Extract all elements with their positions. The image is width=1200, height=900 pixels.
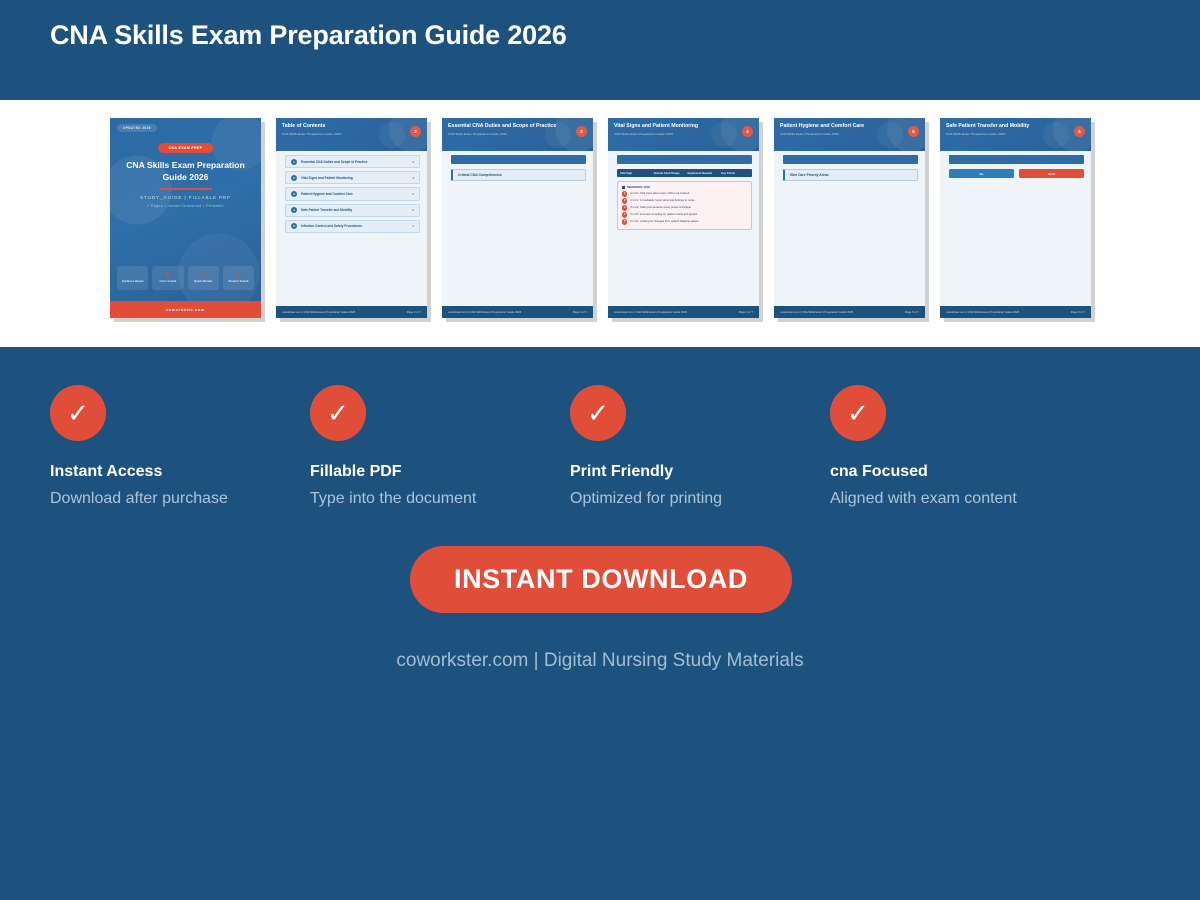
page-5-number: 5 — [908, 126, 919, 137]
memorize-item: 1 It is for: Vital signs taken every shi… — [622, 191, 747, 196]
memorize-item-number: 3 — [622, 205, 627, 210]
page-3-banner — [451, 155, 586, 164]
page-5-body: Skin Care Priority Areas — [774, 151, 925, 305]
memorize-item-number: 2 — [622, 198, 627, 203]
do-dont-columns: Do Don't — [949, 169, 1084, 178]
dont-column: Don't — [1019, 169, 1084, 178]
page-4-banner — [617, 155, 752, 164]
memorize-item-text: It is for: Vital signs taken every shift… — [630, 192, 689, 195]
check-icon: ✓ — [830, 385, 886, 441]
page-6-footer: coworkster.com | CNA Skills Exam Prepara… — [940, 306, 1091, 318]
thumbnail-page-4[interactable]: Vital Signs and Patient Monitoring CNA S… — [608, 118, 759, 318]
diamond-icon: ◆ — [166, 273, 170, 278]
memorize-item-text: It is for: Immediately report abnormal f… — [630, 199, 694, 202]
page-2-title: Table of Contents — [282, 123, 401, 130]
page-3-header: Essential CNA Duties and Scope of Practi… — [442, 118, 593, 151]
check-icon: ✓ — [131, 273, 135, 278]
page-2-subtitle: CNA Skills Exam Preparation Guide 2026 — [282, 132, 341, 136]
page-3-card-title: Critical CNA Competencies — [458, 173, 580, 177]
page-5-subtitle: CNA Skills Exam Preparation Guide 2026 — [780, 132, 839, 136]
memorize-item-text: It is for: Taking temperature using prop… — [630, 206, 691, 209]
feature-title: Fillable PDF — [310, 463, 476, 481]
memorize-box: MEMORIZE THIS 1 It is for: Vital signs t… — [617, 181, 752, 230]
site-footer: coworkster.com | Digital Nursing Study M… — [0, 650, 1200, 672]
cover-footer: coworkster.com — [110, 301, 261, 318]
cover-meta: 7 Pages • Instant Download • Printable — [110, 204, 261, 208]
cover-updated-badge: UPDATED 2026 — [117, 124, 157, 132]
preview-band: UPDATED 2026 CNA EXAM PREP CNA Skills Ex… — [0, 100, 1200, 347]
toc-item[interactable]: 5 Infection Control and Safety Procedure… — [285, 220, 420, 233]
feature-desc: Download after purchase — [50, 490, 228, 508]
page-3-title: Essential CNA Duties and Scope of Practi… — [448, 123, 567, 130]
page-2-footer: coworkster.com | CNA Skills Exam Prepara… — [276, 306, 427, 318]
page-5-footer-right: Page 5 of 7 — [905, 310, 919, 314]
page-6-subtitle: CNA Skills Exam Preparation Guide 2026 — [946, 132, 1005, 136]
feature-desc: Optimized for printing — [570, 490, 722, 508]
page-4-subtitle: CNA Skills Exam Preparation Guide 2026 — [614, 132, 673, 136]
page-5-title: Patient Hygiene and Comfort Care — [780, 123, 899, 130]
table-col-header: Equipment Needed — [685, 169, 719, 177]
cover-title: CNA Skills Exam Preparation Guide 2026 — [118, 159, 253, 183]
instant-download-button[interactable]: INSTANT DOWNLOAD — [410, 546, 792, 613]
alert-icon — [622, 186, 625, 189]
page-2-header: Table of Contents CNA Skills Exam Prepar… — [276, 118, 427, 151]
square-icon: ■ — [202, 273, 205, 278]
check-icon: ✓ — [50, 385, 106, 441]
thumbnail-row: UPDATED 2026 CNA EXAM PREP CNA Skills Ex… — [110, 118, 1091, 318]
page-4-footer: coworkster.com | CNA Skills Exam Prepara… — [608, 306, 759, 318]
page-5-card-title: Skin Care Priority Areas — [790, 173, 912, 177]
page-6-title: Safe Patient Transfer and Mobility — [946, 123, 1065, 130]
toc-page: 6 — [412, 208, 414, 212]
feature-print-friendly: ✓ Print Friendly Optimized for printing — [570, 385, 722, 508]
toc-item[interactable]: 4 Safe Patient Transfer and Mobility 6 — [285, 204, 420, 217]
cover-divider — [160, 188, 212, 190]
toc-label: Safe Patient Transfer and Mobility — [301, 208, 408, 212]
thumbnail-page-2[interactable]: Table of Contents CNA Skills Exam Prepar… — [276, 118, 427, 318]
thumbnail-cover[interactable]: UPDATED 2026 CNA EXAM PREP CNA Skills Ex… — [110, 118, 261, 318]
feature-cna-focused: ✓ cna Focused Aligned with exam content — [830, 385, 1017, 508]
check-icon: ✓ — [570, 385, 626, 441]
toc-bullet: 1 — [291, 159, 297, 165]
page-6-body: Do Don't — [940, 151, 1091, 305]
feature-desc: Aligned with exam content — [830, 490, 1017, 508]
page-5-banner — [783, 155, 918, 164]
toc-item[interactable]: 3 Patient Hygiene and Comfort Care 5 — [285, 187, 420, 200]
page-6-number: 6 — [1074, 126, 1085, 137]
page-5-footer: coworkster.com | CNA Skills Exam Prepara… — [774, 306, 925, 318]
toc-label: Patient Hygiene and Comfort Care — [301, 192, 408, 196]
page-3-footer-left: coworkster.com | CNA Skills Exam Prepara… — [448, 310, 521, 314]
feature-fillable-pdf: ✓ Fillable PDF Type into the document — [310, 385, 476, 508]
memorize-item-number: 1 — [622, 191, 627, 196]
cover-feature-label: Student Tested — [228, 280, 248, 283]
page-2-footer-right: Page 2 of 7 — [407, 310, 421, 314]
page-5-header: Patient Hygiene and Comfort Care CNA Ski… — [774, 118, 925, 151]
page-3-number: 3 — [576, 126, 587, 137]
memorize-item: 3 It is for: Taking temperature using pr… — [622, 205, 747, 210]
toc-bullet: 2 — [291, 175, 297, 181]
cover-feature-label: Evidence Based — [122, 280, 143, 283]
cover-feature-item: ◆ Color Coded — [152, 266, 183, 290]
cover-feature-item: ■ Quick Review — [188, 266, 219, 290]
page-3-body: Critical CNA Competencies — [442, 151, 593, 305]
page-6-footer-left: coworkster.com | CNA Skills Exam Prepara… — [946, 310, 1019, 314]
toc-label: Vital Signs and Patient Monitoring — [301, 176, 408, 180]
page-3-footer: coworkster.com | CNA Skills Exam Prepara… — [442, 306, 593, 318]
page-6-banner — [949, 155, 1084, 164]
toc-bullet: 3 — [291, 191, 297, 197]
page-title: CNA Skills Exam Preparation Guide 2026 — [50, 20, 567, 51]
cover-exam-pill: CNA EXAM PREP — [158, 143, 214, 153]
feature-instant-access: ✓ Instant Access Download after purchase — [50, 385, 228, 508]
cover-feature-label: Quick Review — [194, 280, 212, 283]
feature-title: cna Focused — [830, 463, 1017, 481]
page-6-footer-right: Page 6 of 7 — [1071, 310, 1085, 314]
toc-page: 4 — [412, 176, 414, 180]
memorize-item: 2 It is for: Immediately report abnormal… — [622, 198, 747, 203]
cover-footer-text: coworkster.com — [166, 307, 205, 312]
page-4-footer-right: Page 4 of 7 — [739, 310, 753, 314]
page-4-title: Vital Signs and Patient Monitoring — [614, 123, 733, 130]
check-icon: ✓ — [310, 385, 366, 441]
toc-label: Infection Control and Safety Procedures — [301, 224, 408, 228]
toc-label: Essential CNA Duties and Scope of Practi… — [301, 160, 408, 164]
cover-feature-item: ★ Student Tested — [223, 266, 254, 290]
table-col-header: Vital Sign — [617, 169, 651, 177]
toc-page: 7 — [412, 224, 414, 228]
memorize-item-text: It is for: Looking for changes from pati… — [630, 220, 698, 223]
page-4-body: Vital Sign Normal Adult Range Equipment … — [608, 151, 759, 305]
memorize-item: 4 It is for: Accurate recording on patie… — [622, 212, 747, 217]
memorize-title: MEMORIZE THIS — [622, 185, 747, 189]
do-column: Do — [949, 169, 1014, 178]
toc-item[interactable]: 2 Vital Signs and Patient Monitoring 4 — [285, 171, 420, 184]
page-5-footer-left: coworkster.com | CNA Skills Exam Prepara… — [780, 310, 853, 314]
feature-title: Print Friendly — [570, 463, 722, 481]
page-2-body: 1 Essential CNA Duties and Scope of Prac… — [276, 151, 427, 305]
star-icon: ★ — [236, 273, 240, 278]
page-4-header: Vital Signs and Patient Monitoring CNA S… — [608, 118, 759, 151]
toc-item[interactable]: 1 Essential CNA Duties and Scope of Prac… — [285, 155, 420, 168]
page-2-number: 2 — [410, 126, 421, 137]
memorize-title-text: MEMORIZE THIS — [627, 185, 650, 189]
toc-page: 3 — [412, 160, 414, 164]
memorize-item-number: 5 — [622, 219, 627, 224]
memorize-item: 5 It is for: Looking for changes from pa… — [622, 219, 747, 224]
page-5-card: Skin Care Priority Areas — [783, 169, 918, 181]
page-3-footer-right: Page 3 of 7 — [573, 310, 587, 314]
cover-feature-row: ✓ Evidence Based ◆ Color Coded ■ Quick R… — [117, 266, 254, 290]
page-4-footer-left: coworkster.com | CNA Skills Exam Prepara… — [614, 310, 687, 314]
toc-bullet: 5 — [291, 223, 297, 229]
table-col-header: Key Points — [718, 169, 752, 177]
feature-desc: Type into the document — [310, 490, 476, 508]
page-4-number: 4 — [742, 126, 753, 137]
cover-feature-item: ✓ Evidence Based — [117, 266, 148, 290]
feature-section: ✓ Instant Access Download after purchase… — [0, 347, 1200, 537]
page-6-header: Safe Patient Transfer and Mobility CNA S… — [940, 118, 1091, 151]
thumbnail-page-6[interactable]: Safe Patient Transfer and Mobility CNA S… — [940, 118, 1091, 318]
page-3-card: Critical CNA Competencies — [451, 169, 586, 181]
toc-page: 5 — [412, 192, 414, 196]
cover-subtitle: STUDY_GUIDE | FILLABLE PDF — [110, 195, 261, 200]
memorize-item-text: It is for: Accurate recording on patient… — [630, 213, 697, 216]
page-3-subtitle: CNA Skills Exam Preparation Guide 2026 — [448, 132, 507, 136]
toc-bullet: 4 — [291, 207, 297, 213]
thumbnail-page-5[interactable]: Patient Hygiene and Comfort Care CNA Ski… — [774, 118, 925, 318]
page-2-footer-left: coworkster.com | CNA Skills Exam Prepara… — [282, 310, 355, 314]
thumbnail-page-3[interactable]: Essential CNA Duties and Scope of Practi… — [442, 118, 593, 318]
cover-feature-label: Color Coded — [159, 280, 176, 283]
page-header: CNA Skills Exam Preparation Guide 2026 — [0, 0, 1200, 100]
vitals-table-header: Vital Sign Normal Adult Range Equipment … — [617, 169, 752, 177]
memorize-item-number: 4 — [622, 212, 627, 217]
feature-title: Instant Access — [50, 463, 228, 481]
table-col-header: Normal Adult Range — [651, 169, 685, 177]
